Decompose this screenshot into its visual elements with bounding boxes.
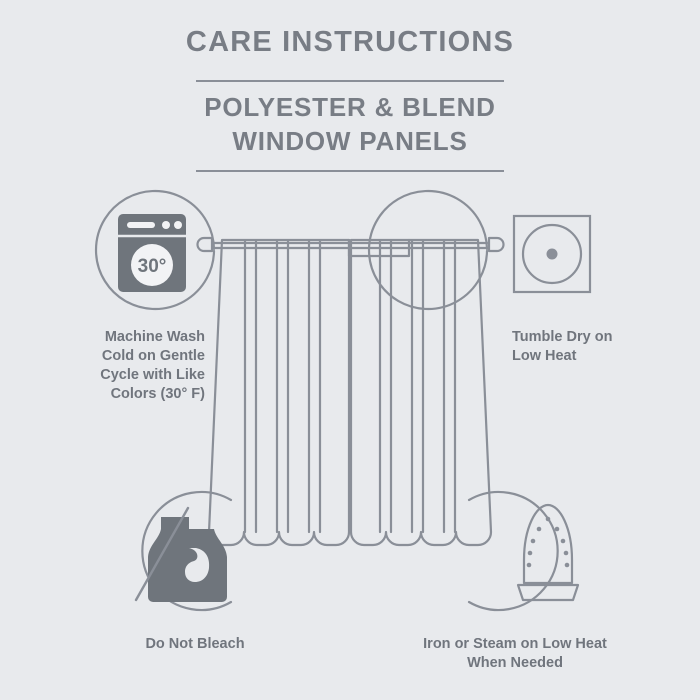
- wash-temperature-label: 30°: [138, 256, 167, 277]
- caption-line: Machine Wash: [30, 328, 205, 347]
- curtain-illustration: [198, 238, 504, 545]
- dryer-low-heat-dot: [547, 249, 558, 260]
- tumble-dry-low-icon: [514, 216, 590, 292]
- caption-iron-low: Iron or Steam on Low Heat When Needed: [380, 635, 650, 673]
- caption-line: Iron or Steam on Low Heat: [380, 635, 650, 654]
- caption-do-not-bleach: Do Not Bleach: [75, 635, 315, 654]
- badge-ring-dry: [369, 191, 487, 309]
- iron-low-heat-icon: [518, 505, 578, 600]
- iron-steam-holes: [527, 517, 570, 568]
- caption-line: Cycle with Like: [30, 366, 205, 385]
- caption-line: When Needed: [380, 654, 650, 673]
- caption-tumble-dry: Tumble Dry on Low Heat: [512, 328, 687, 366]
- caption-line: Do Not Bleach: [75, 635, 315, 654]
- badge-ring-iron: [469, 492, 558, 610]
- caption-line: Tumble Dry on: [512, 328, 687, 347]
- care-instructions-infographic: CARE INSTRUCTIONS POLYESTER & BLEND WIND…: [0, 0, 700, 700]
- caption-line: Cold on Gentle: [30, 347, 205, 366]
- caption-line: Low Heat: [512, 347, 687, 366]
- caption-line: Colors (30° F): [30, 385, 205, 404]
- badge-machine-wash: 30°: [96, 191, 214, 309]
- caption-machine-wash: Machine Wash Cold on Gentle Cycle with L…: [30, 328, 205, 404]
- washing-machine-icon: 30°: [118, 214, 186, 292]
- badge-iron-low: [469, 492, 578, 610]
- badge-do-not-bleach: [136, 492, 231, 610]
